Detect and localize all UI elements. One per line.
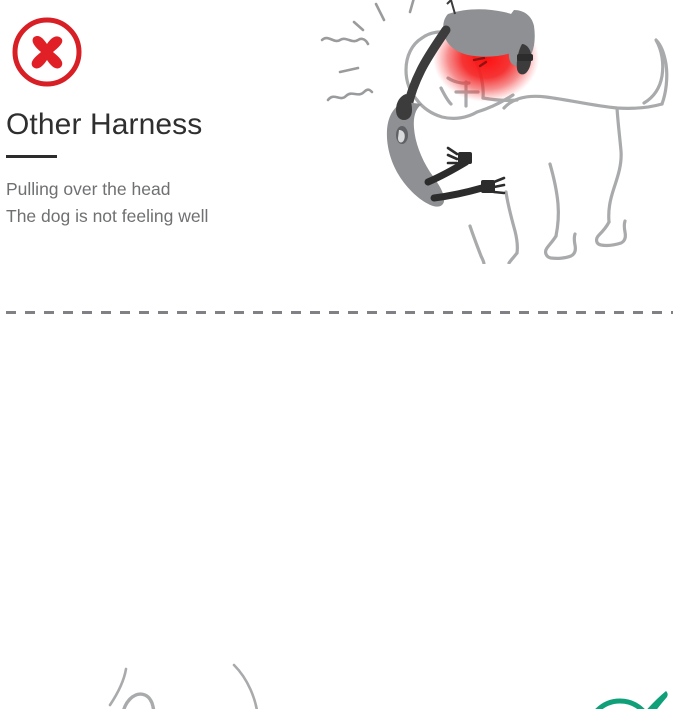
panel-our-harness: Our Harness No more pulling over the hea… xyxy=(0,313,679,709)
illustration-other-harness xyxy=(318,0,679,264)
circle-check-icon xyxy=(343,683,672,709)
comparison-infographic: Other Harness Pulling over the head The … xyxy=(0,0,679,709)
other-harness-description: Pulling over the head The dog is not fee… xyxy=(6,176,336,230)
illustration-our-harness xyxy=(0,657,360,709)
page-title-other-harness: Other Harness xyxy=(6,107,336,143)
panel-other-harness: Other Harness Pulling over the head The … xyxy=(0,0,679,312)
circle-x-icon xyxy=(7,12,336,97)
our-harness-text-block: Our Harness No more pulling over the hea… xyxy=(343,683,673,709)
other-harness-text-block: Other Harness Pulling over the head The … xyxy=(6,12,336,230)
title-rule-other xyxy=(6,155,57,158)
